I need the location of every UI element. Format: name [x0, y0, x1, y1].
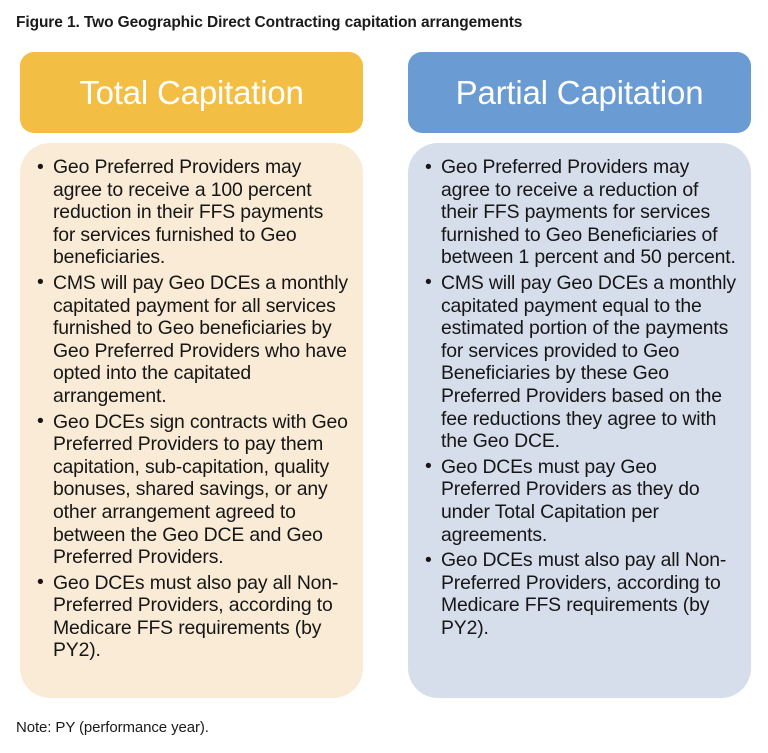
list-item: Geo Preferred Providers may agree to rec…	[424, 156, 737, 269]
list-item: Geo DCEs must pay Geo Preferred Provider…	[424, 456, 737, 546]
bullet-list-partial-capitation: Geo Preferred Providers may agree to rec…	[424, 156, 737, 639]
panel-body-partial-capitation: Geo Preferred Providers may agree to rec…	[408, 143, 751, 698]
panel-header-label-total-capitation: Total Capitation	[79, 76, 303, 109]
panel-header-label-partial-capitation: Partial Capitation	[456, 76, 704, 109]
panel-body-total-capitation: Geo Preferred Providers may agree to rec…	[20, 143, 363, 698]
bullet-list-total-capitation: Geo Preferred Providers may agree to rec…	[36, 156, 349, 662]
panel-partial-capitation: Partial Capitation Geo Preferred Provide…	[408, 52, 751, 698]
list-item: Geo Preferred Providers may agree to rec…	[36, 156, 349, 269]
panel-total-capitation: Total Capitation Geo Preferred Providers…	[20, 52, 363, 698]
list-item: Geo DCEs must also pay all Non-Preferred…	[36, 572, 349, 662]
capitation-panels: Total Capitation Geo Preferred Providers…	[0, 52, 768, 698]
figure-title: Figure 1. Two Geographic Direct Contract…	[16, 14, 756, 33]
panel-header-partial-capitation: Partial Capitation	[408, 52, 751, 133]
list-item: Geo DCEs must also pay all Non-Preferred…	[424, 549, 737, 639]
list-item: Geo DCEs sign contracts with Geo Preferr…	[36, 411, 349, 569]
panel-header-total-capitation: Total Capitation	[20, 52, 363, 133]
list-item: CMS will pay Geo DCEs a monthly capitate…	[424, 272, 737, 453]
figure-note: Note: PY (performance year).	[16, 719, 209, 737]
list-item: CMS will pay Geo DCEs a monthly capitate…	[36, 272, 349, 408]
